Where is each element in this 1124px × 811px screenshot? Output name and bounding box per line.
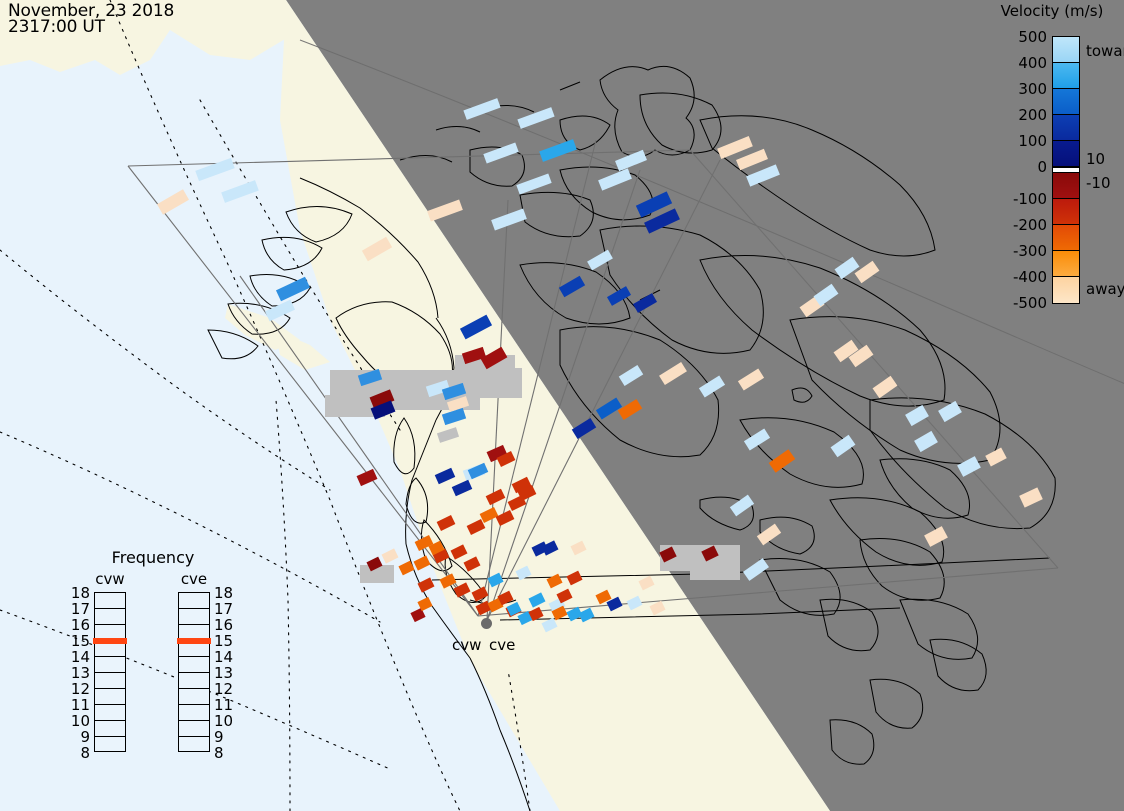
- colorbar-tick-300: 300: [1018, 80, 1047, 98]
- colorbar-tick-500: 500: [1018, 28, 1047, 46]
- colorbar-segment--400to-300: [1053, 251, 1079, 277]
- ground-scatter-patch: [470, 368, 522, 398]
- frequency-cell: [95, 657, 125, 673]
- frequency-tick-8: 8: [214, 744, 224, 762]
- radar-site-label-cvw: cvw: [452, 636, 481, 654]
- colorbar-segment--300to-200: [1053, 225, 1079, 251]
- frequency-cell: [95, 609, 125, 625]
- colorbar-away-label: away: [1086, 280, 1124, 298]
- colorbar-segment--100to-10: [1053, 173, 1079, 199]
- frequency-bar-cvw: 18171615141312111098: [94, 592, 126, 752]
- colorbar-tick-neg400: -400: [1013, 268, 1047, 286]
- frequency-cell: [95, 673, 125, 689]
- ground-scatter-patch: [690, 560, 740, 580]
- colorbar-segment-300to400: [1053, 63, 1079, 89]
- frequency-cell: [179, 721, 209, 737]
- colorbar-tick-0: 0: [1037, 158, 1047, 176]
- frequency-cell: [179, 593, 209, 609]
- colorbar-tick-neg200: -200: [1013, 216, 1047, 234]
- colorbar-tick-neg500: -500: [1013, 294, 1047, 312]
- frequency-bar-cve: 18171615141312111098: [178, 592, 210, 752]
- colorbar-segment-200to300: [1053, 89, 1079, 115]
- frequency-marker-cve: [177, 638, 211, 644]
- frequency-legend: Frequency cvw18171615141312111098cve1817…: [88, 548, 258, 780]
- frequency-cell: [179, 657, 209, 673]
- frequency-cell: [95, 705, 125, 721]
- frequency-cell: [179, 737, 209, 753]
- colorbar-segment-10to100: [1053, 141, 1079, 167]
- colorbar-title: Velocity (m/s): [980, 2, 1124, 20]
- frequency-tick-8: 8: [80, 744, 90, 762]
- frequency-cell: [95, 737, 125, 753]
- colorbar-tick-neg100: -100: [1013, 190, 1047, 208]
- frequency-column-label-cve: cve: [172, 570, 216, 588]
- colorbar-tick-100: 100: [1018, 132, 1047, 150]
- time-label: 2317:00 UT: [8, 17, 105, 37]
- frequency-cell: [179, 705, 209, 721]
- colorbar-center-positive-label: 10: [1086, 150, 1105, 168]
- colorbar-toward-label: toward: [1086, 42, 1124, 60]
- radar-site-marker: [481, 618, 492, 629]
- superdarn-map-figure: November, 23 2018 2317:00 UT cvwcve Velo…: [0, 0, 1124, 811]
- frequency-cell: [95, 593, 125, 609]
- frequency-cell: [95, 689, 125, 705]
- colorbar-center-negative-label: -10: [1086, 174, 1111, 192]
- frequency-cell: [179, 609, 209, 625]
- colorbar-tick-200: 200: [1018, 106, 1047, 124]
- frequency-cell: [95, 721, 125, 737]
- frequency-marker-cvw: [93, 638, 127, 644]
- radar-site-label-cve: cve: [489, 636, 515, 654]
- frequency-column-label-cvw: cvw: [88, 570, 132, 588]
- colorbar-segment-100to200: [1053, 115, 1079, 141]
- frequency-title: Frequency: [88, 548, 218, 567]
- frequency-cell: [179, 689, 209, 705]
- colorbar-segment--200to-100: [1053, 199, 1079, 225]
- frequency-cell: [179, 673, 209, 689]
- colorbar-segment-400to500: [1053, 37, 1079, 63]
- velocity-colorbar: Velocity (m/s) 5004003002001000-100-200-…: [980, 0, 1124, 340]
- colorbar-tick-neg300: -300: [1013, 242, 1047, 260]
- colorbar-gradient: 5004003002001000-100-200-300-400-500towa…: [1052, 36, 1080, 304]
- colorbar-segment--500to-400: [1053, 277, 1079, 303]
- colorbar-tick-400: 400: [1018, 54, 1047, 72]
